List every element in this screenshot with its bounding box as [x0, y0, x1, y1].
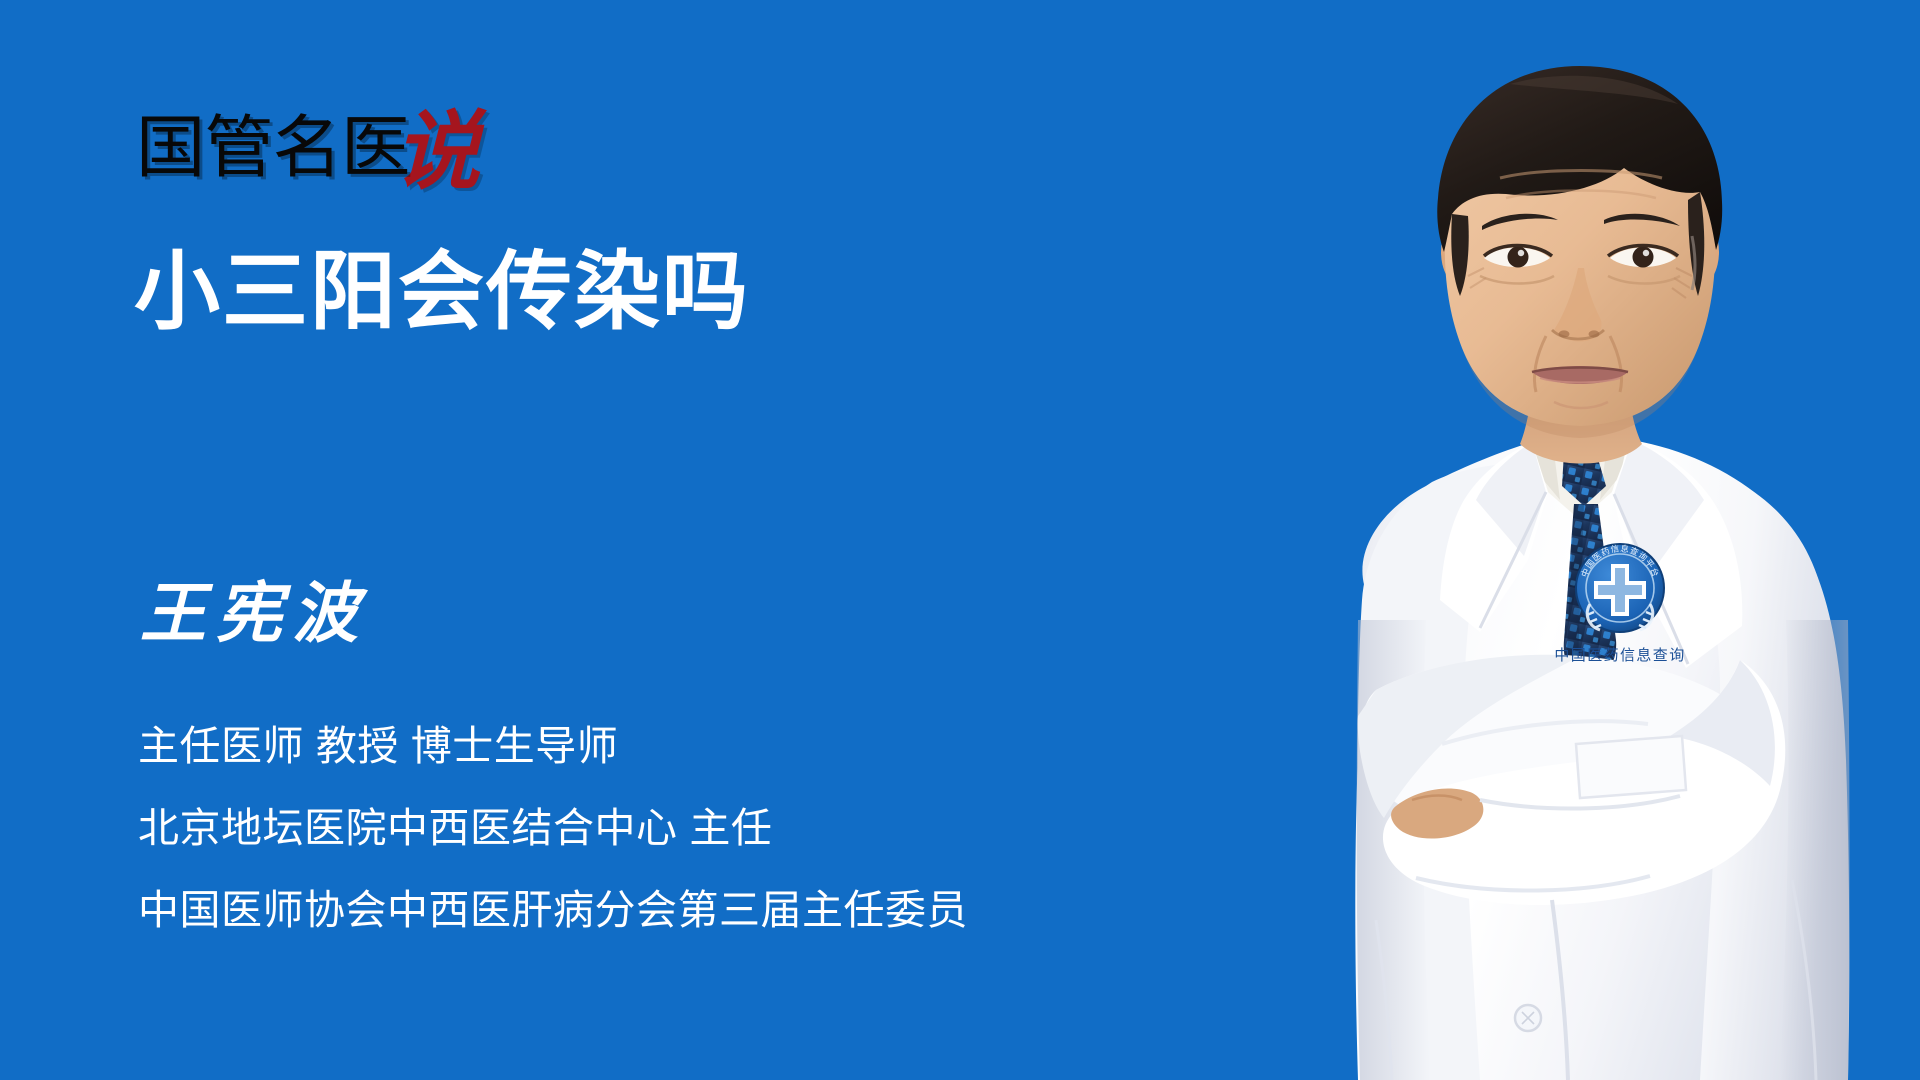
credential-line: 北京地坛医院中西医结合中心 主任	[138, 806, 968, 852]
credential-line: 主任医师 教授 博士生导师	[138, 724, 968, 770]
episode-title: 小三阳会传染吗	[134, 246, 750, 339]
coat-badge-caption: 中国医药信息查询	[1554, 647, 1685, 664]
doctor-portrait: 中国医药信息查询平台 中国医药信息查询	[1180, 0, 1920, 1080]
promo-card: 国管名医 说 小三阳会传染吗 王宪波 主任医师 教授 博士生导师 北京地坛医院中…	[0, 0, 1920, 1080]
program-logo-main-text: 国管名医	[136, 114, 409, 182]
doctor-name: 王宪波	[140, 582, 368, 648]
program-logo: 国管名医 说	[136, 98, 480, 182]
coat-badge-emblem: 中国医药信息查询平台	[1576, 543, 1664, 632]
doctor-credentials: 主任医师 教授 博士生导师 北京地坛医院中西医结合中心 主任 中国医师协会中西医…	[138, 724, 968, 934]
credential-line: 中国医师协会中西医肝病分会第三届主任委员	[138, 888, 968, 934]
